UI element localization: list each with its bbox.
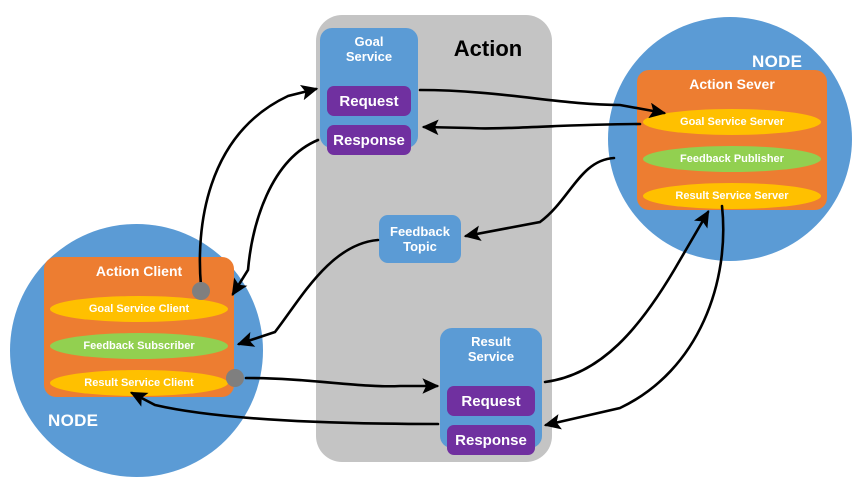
pill-goal-service-server[interactable]: Goal Service Server (643, 109, 821, 135)
action-client-title: Action Client (44, 263, 234, 279)
feedback-topic-box[interactable]: Feedback Topic (379, 215, 461, 263)
result-service-response-chip[interactable]: Response (447, 425, 535, 455)
connector-dot-goal-client (192, 282, 210, 300)
action-panel-label: Action (424, 36, 552, 62)
action-server-box: Action Sever Goal Service Server Feedbac… (637, 70, 827, 210)
goal-service-title-line2: Service (346, 49, 392, 64)
goal-service-title: Goal Service (320, 34, 418, 65)
node-label-client: NODE (48, 411, 98, 431)
node-label-server: NODE (752, 52, 802, 72)
pill-feedback-publisher[interactable]: Feedback Publisher (643, 146, 821, 172)
feedback-topic-title-line1: Feedback (390, 224, 450, 239)
pill-result-service-server[interactable]: Result Service Server (643, 183, 821, 209)
arrow-goal-response-to-client (233, 140, 318, 294)
action-server-title: Action Sever (637, 76, 827, 92)
result-service-title-line2: Service (468, 349, 514, 364)
feedback-topic-title: Feedback Topic (390, 224, 450, 255)
action-client-box: Action Client Goal Service Client Feedba… (44, 257, 234, 397)
goal-service-title-line1: Goal (355, 34, 384, 49)
goal-service-response-chip[interactable]: Response (327, 125, 411, 155)
feedback-topic-title-line2: Topic (403, 239, 437, 254)
pill-feedback-subscriber[interactable]: Feedback Subscriber (50, 333, 228, 359)
connector-dot-result-client (226, 369, 244, 387)
result-service-title: Result Service (440, 334, 542, 365)
result-service-box: Result Service Request Response (440, 328, 542, 448)
diagram-canvas: Action NODE Action Sever Goal Service Se… (0, 0, 854, 480)
result-service-title-line1: Result (471, 334, 511, 349)
goal-service-request-chip[interactable]: Request (327, 86, 411, 116)
goal-service-box: Goal Service Request Response (320, 28, 418, 148)
pill-result-service-client[interactable]: Result Service Client (50, 370, 228, 396)
result-service-request-chip[interactable]: Request (447, 386, 535, 416)
